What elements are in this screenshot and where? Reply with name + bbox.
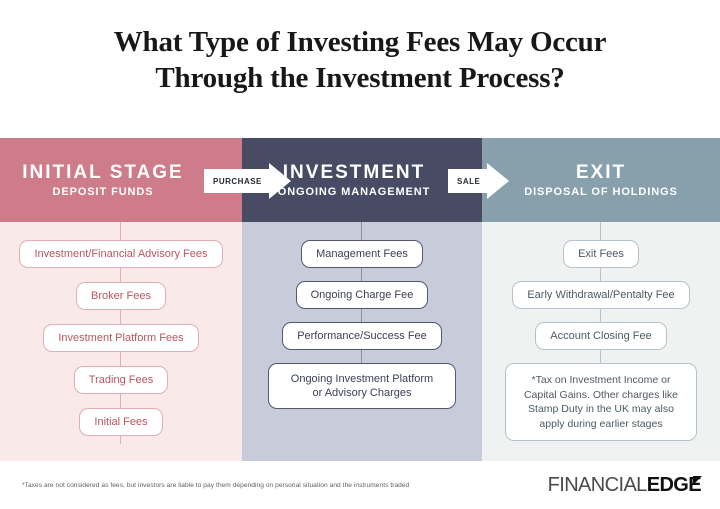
stage-columns: Investment/Financial Advisory Fees Broke… [0, 222, 720, 461]
fee-chip-trading-fees[interactable]: Trading Fees [74, 366, 168, 394]
purchase-arrow-icon: PURCHASE [204, 163, 291, 199]
column-initial: Investment/Financial Advisory Fees Broke… [0, 222, 242, 461]
tax-note-label: *Tax on Investment Income or Capital Gai… [520, 373, 682, 431]
logo-flag-icon [693, 476, 702, 485]
stage-investment-subtitle: ONGOING MANAGEMENT [278, 185, 430, 199]
sale-arrow-label: SALE [457, 177, 480, 186]
fee-chip-label: Management Fees [316, 247, 408, 261]
fee-chip-label: Early Withdrawal/Pentalty Fee [527, 288, 674, 302]
fee-chip-management-fees[interactable]: Management Fees [301, 240, 423, 268]
fee-chip-label: Trading Fees [89, 373, 153, 387]
fee-chip-label: Investment/Financial Advisory Fees [34, 247, 207, 261]
purchase-arrow-body: PURCHASE [204, 169, 269, 193]
fee-chip-initial-fees[interactable]: Initial Fees [79, 408, 162, 436]
fee-chip-exit-fees[interactable]: Exit Fees [563, 240, 639, 268]
fee-chip-ongoing-charge-fee[interactable]: Ongoing Charge Fee [296, 281, 429, 309]
title-line-1: What Type of Investing Fees May Occur [0, 24, 720, 60]
purchase-arrow-label: PURCHASE [213, 177, 262, 186]
stage-header-band: INITIAL STAGE DEPOSIT FUNDS INVESTMENT O… [0, 138, 720, 222]
stage-header-exit: EXIT DISPOSAL OF HOLDINGS [482, 138, 720, 222]
footnote-text: *Taxes are not considered as fees, but i… [22, 481, 409, 491]
fee-chip-investment-platform-fees[interactable]: Investment Platform Fees [43, 324, 198, 352]
column-exit: Exit Fees Early Withdrawal/Pentalty Fee … [482, 222, 720, 461]
fee-chip-label: Investment Platform Fees [58, 331, 183, 345]
column-investment: Management Fees Ongoing Charge Fee Perfo… [242, 222, 482, 461]
purchase-arrow-head [269, 163, 291, 199]
tax-note-box: *Tax on Investment Income or Capital Gai… [505, 363, 697, 441]
fee-chip-label: Initial Fees [94, 415, 147, 429]
fee-chip-ongoing-investment-platform[interactable]: Ongoing Investment Platform or Advisory … [268, 363, 456, 409]
fee-chip-label: Ongoing Charge Fee [311, 288, 414, 302]
fee-chip-investment-financial-advisory[interactable]: Investment/Financial Advisory Fees [19, 240, 222, 268]
fee-chip-label: Performance/Success Fee [297, 329, 427, 343]
logo-text-financial: FINANCIAL [548, 474, 647, 497]
fee-chip-performance-success-fee[interactable]: Performance/Success Fee [282, 322, 442, 350]
sale-arrow-body: SALE [448, 169, 487, 193]
fee-chip-label: Broker Fees [91, 289, 151, 303]
fee-chip-broker-fees[interactable]: Broker Fees [76, 282, 166, 310]
stage-initial-title: INITIAL STAGE [22, 162, 183, 183]
stage-exit-subtitle: DISPOSAL OF HOLDINGS [524, 185, 677, 199]
fee-chip-label: Exit Fees [578, 247, 624, 261]
page-title: What Type of Investing Fees May Occur Th… [0, 24, 720, 96]
stage-initial-subtitle: DEPOSIT FUNDS [53, 185, 154, 199]
stage-exit-title: EXIT [576, 162, 626, 183]
fee-chip-early-withdrawal-penalty-fee[interactable]: Early Withdrawal/Pentalty Fee [512, 281, 689, 309]
sale-arrow-head [487, 163, 509, 199]
fee-chip-label: Ongoing Investment Platform or Advisory … [285, 372, 439, 400]
title-line-2: Through the Investment Process? [0, 60, 720, 96]
stage-investment-title: INVESTMENT [283, 162, 425, 183]
fee-chip-account-closing-fee[interactable]: Account Closing Fee [535, 322, 667, 350]
sale-arrow-icon: SALE [448, 163, 509, 199]
fee-chip-label: Account Closing Fee [550, 329, 652, 343]
financial-edge-logo: FINANCIAL EDGE [548, 474, 702, 497]
